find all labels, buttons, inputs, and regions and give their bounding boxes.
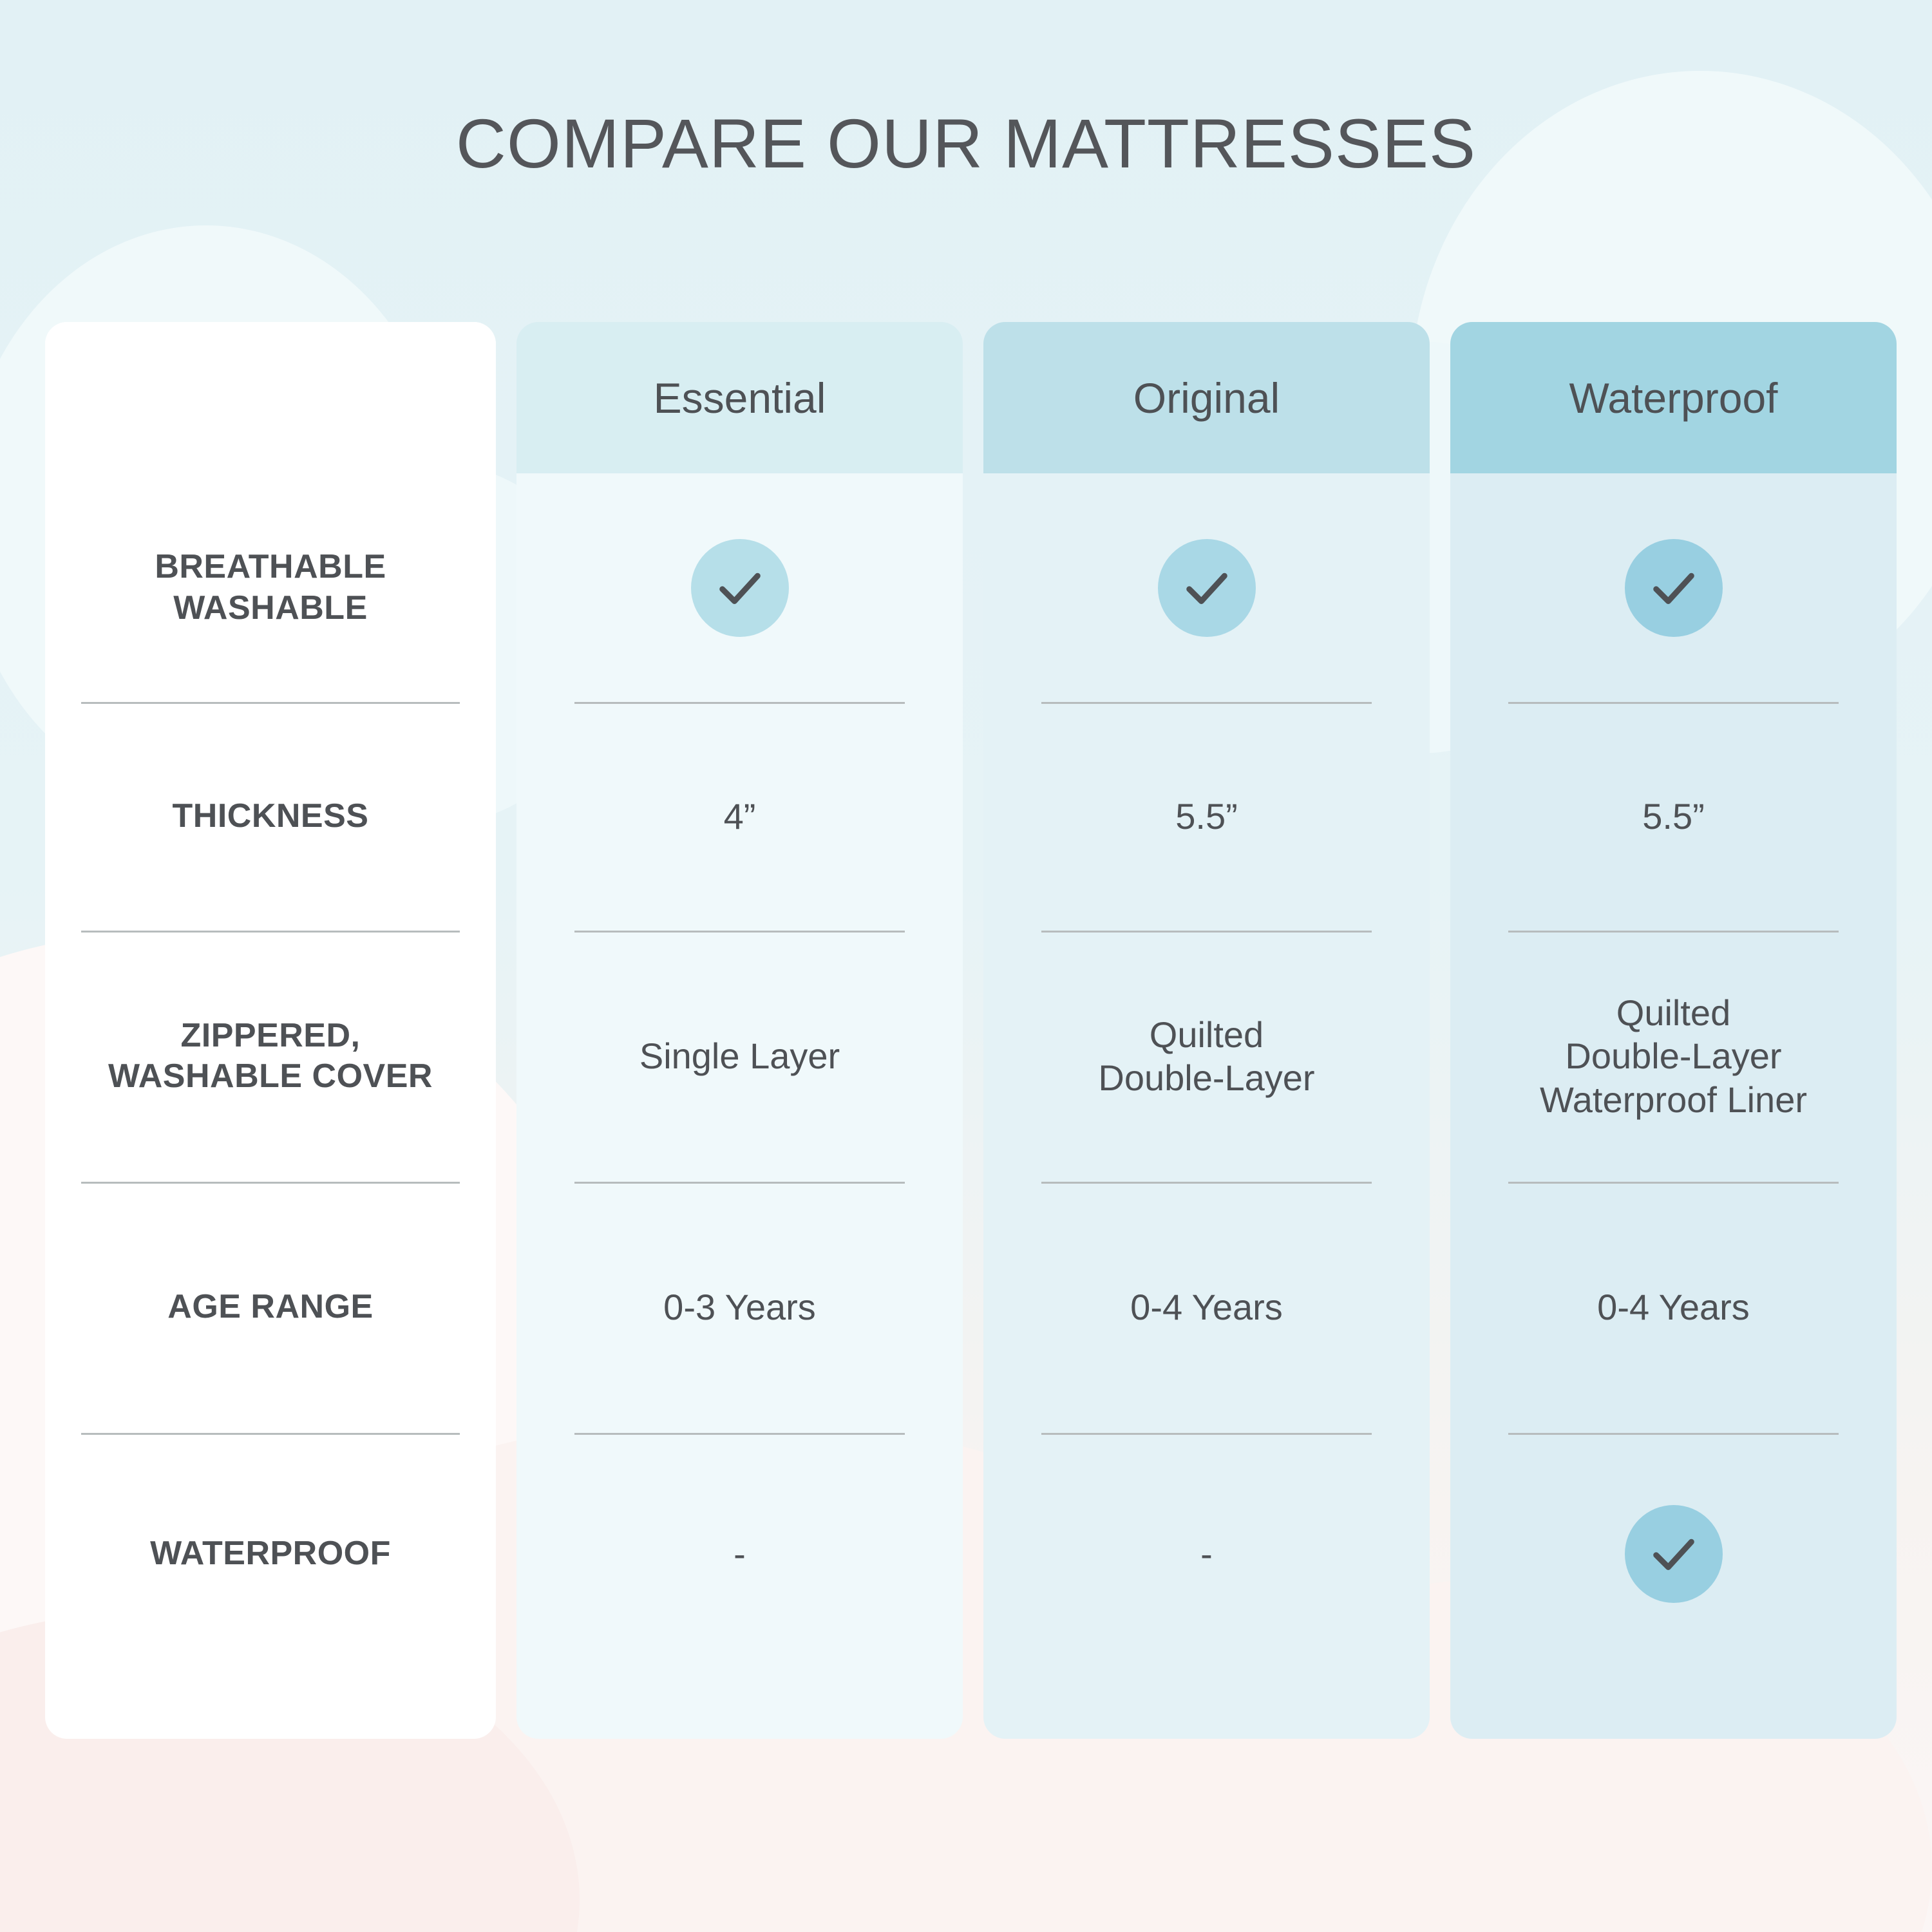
row-label-age-range: AGE RANGE — [45, 1182, 496, 1433]
cell-waterproof-cover: QuiltedDouble-LayerWaterproof Liner — [1450, 931, 1897, 1182]
check-icon — [1158, 539, 1256, 637]
product-column-essential[interactable]: Essential 4” Single Layer 0-3 Years - — [516, 322, 963, 1739]
row-label-column: BREATHABLE WASHABLE THICKNESS ZIPPERED, … — [45, 322, 496, 1739]
cell-essential-age-range: 0-3 Years — [516, 1182, 963, 1433]
row-label-waterproof: WATERPROOF — [45, 1433, 496, 1674]
column-header-original: Original — [983, 322, 1430, 473]
cell-value: 4” — [724, 795, 756, 838]
cell-essential-cover: Single Layer — [516, 931, 963, 1182]
cell-value: QuiltedDouble-Layer — [1098, 1013, 1314, 1099]
column-body-original: 5.5” QuiltedDouble-Layer 0-4 Years - — [983, 473, 1430, 1739]
row-label-column-header — [45, 322, 496, 473]
cell-value: 0-3 Years — [663, 1285, 816, 1329]
row-label-line1: WATERPROOF — [150, 1533, 391, 1574]
row-label-line2: WASHABLE — [155, 588, 386, 629]
cell-original-breathable-washable — [983, 473, 1430, 702]
cell-value: QuiltedDouble-LayerWaterproof Liner — [1540, 991, 1807, 1121]
product-column-original[interactable]: Original 5.5” QuiltedDouble-Layer 0-4 Ye… — [983, 322, 1430, 1739]
column-header-waterproof: Waterproof — [1450, 322, 1897, 473]
column-body-waterproof: 5.5” QuiltedDouble-LayerWaterproof Liner… — [1450, 473, 1897, 1739]
check-icon — [1625, 539, 1723, 637]
row-label-line1: ZIPPERED, — [108, 1016, 433, 1056]
check-icon — [691, 539, 789, 637]
cell-essential-waterproof: - — [516, 1433, 963, 1674]
cell-value: - — [734, 1532, 746, 1575]
cell-original-waterproof: - — [983, 1433, 1430, 1674]
row-label-zippered-washable-cover: ZIPPERED, WASHABLE COVER — [45, 931, 496, 1182]
cell-value: 5.5” — [1642, 795, 1705, 838]
row-label-line1: THICKNESS — [173, 796, 369, 837]
cell-waterproof-thickness: 5.5” — [1450, 702, 1897, 931]
row-label-thickness: THICKNESS — [45, 702, 496, 931]
cell-value: - — [1200, 1532, 1213, 1575]
cell-original-thickness: 5.5” — [983, 702, 1430, 931]
cell-value: 0-4 Years — [1597, 1285, 1750, 1329]
check-icon — [1625, 1505, 1723, 1603]
cell-value: 5.5” — [1175, 795, 1238, 838]
cell-waterproof-breathable-washable — [1450, 473, 1897, 702]
row-label-column-body: BREATHABLE WASHABLE THICKNESS ZIPPERED, … — [45, 473, 496, 1739]
cell-waterproof-age-range: 0-4 Years — [1450, 1182, 1897, 1433]
column-body-essential: 4” Single Layer 0-3 Years - — [516, 473, 963, 1739]
cell-waterproof-waterproof — [1450, 1433, 1897, 1674]
cell-value: Single Layer — [639, 1034, 840, 1077]
row-label-line2: WASHABLE COVER — [108, 1056, 433, 1097]
comparison-table: BREATHABLE WASHABLE THICKNESS ZIPPERED, … — [45, 322, 1897, 1739]
cell-essential-breathable-washable — [516, 473, 963, 702]
row-label-line1: BREATHABLE — [155, 547, 386, 587]
row-label-breathable-washable: BREATHABLE WASHABLE — [45, 473, 496, 702]
cell-original-age-range: 0-4 Years — [983, 1182, 1430, 1433]
product-column-waterproof[interactable]: Waterproof 5.5” QuiltedDouble-LayerWater… — [1450, 322, 1897, 1739]
cell-essential-thickness: 4” — [516, 702, 963, 931]
page-title: COMPARE OUR MATTRESSES — [0, 103, 1932, 184]
column-header-essential: Essential — [516, 322, 963, 473]
cell-original-cover: QuiltedDouble-Layer — [983, 931, 1430, 1182]
row-label-line1: AGE RANGE — [167, 1287, 373, 1327]
comparison-page: COMPARE OUR MATTRESSES BREATHABLE WASHAB… — [0, 0, 1932, 1932]
cell-value: 0-4 Years — [1130, 1285, 1283, 1329]
